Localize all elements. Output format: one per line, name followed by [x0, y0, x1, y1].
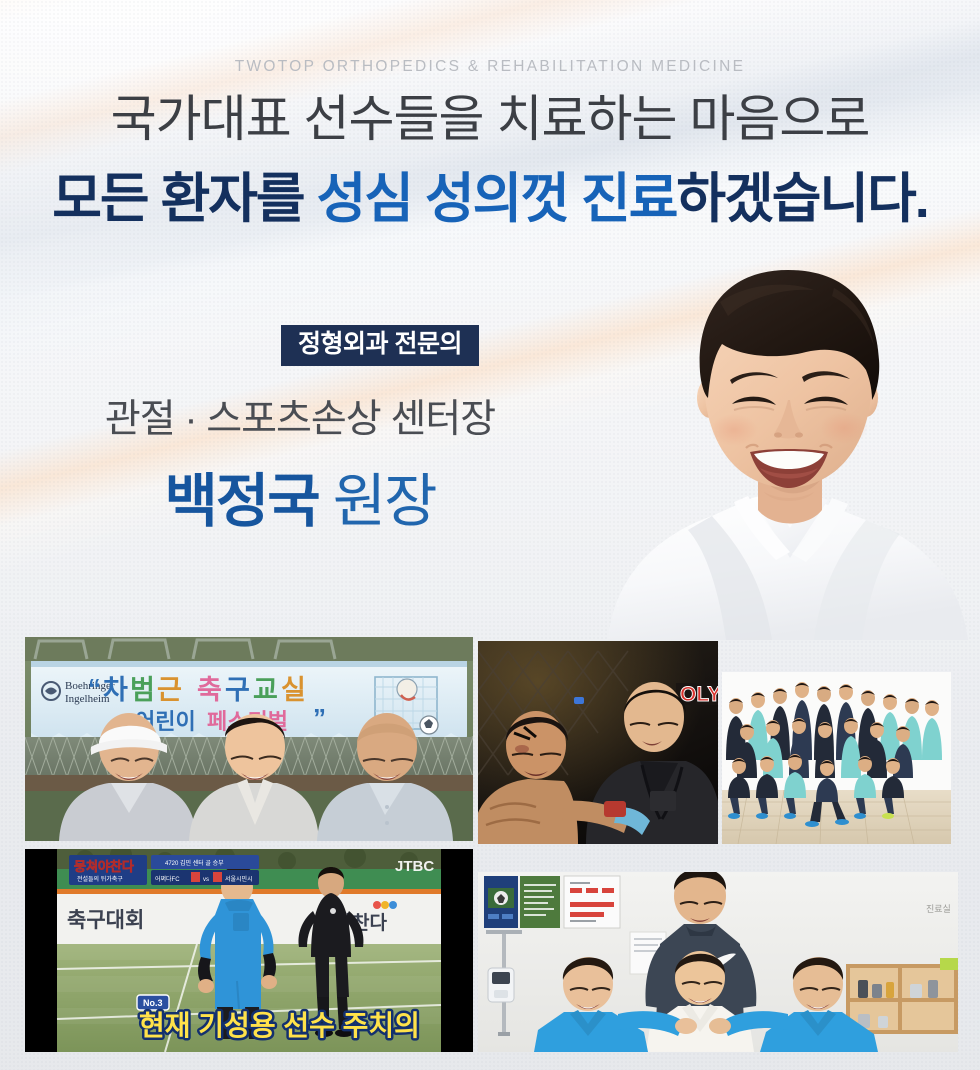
gallery-photo-mma-cageside-doctor[interactable]: OLY: [478, 641, 718, 844]
svg-text:뭉쳐야찬다: 뭉쳐야찬다: [74, 859, 134, 874]
svg-text:구: 구: [225, 675, 250, 705]
svg-text:4720 김민 센터 골 승부: 4720 김민 센터 골 승부: [165, 859, 224, 867]
doctor-portrait: [600, 248, 980, 640]
doctor-name: 백정국: [165, 469, 319, 534]
headline-part-2: 성심 성의껏: [317, 169, 581, 229]
svg-text:교: 교: [253, 675, 278, 705]
svg-text:“: “: [88, 673, 101, 703]
doctor-title: 원장: [333, 469, 436, 534]
svg-text:JTBC: JTBC: [395, 858, 434, 875]
svg-text:어쩌다FC: 어쩌다FC: [155, 875, 180, 883]
svg-text:No.3: No.3: [143, 998, 163, 1008]
doctor-role-label: 관절 · 스포츠손상 센터장: [0, 388, 600, 444]
svg-text:실: 실: [281, 675, 306, 705]
headline-part-3: 진료: [581, 169, 676, 229]
svg-text:축구대회: 축구대회: [67, 909, 144, 932]
doctor-name-line: 백정국 원장: [0, 473, 600, 531]
svg-text:현재 기성용 선수 주치의: 현재 기성용 선수 주치의: [139, 1010, 420, 1041]
gallery-photo-national-team-group[interactable]: [722, 672, 951, 844]
specialty-badge: 정형외과 전문의: [281, 325, 479, 366]
headline-part-4: 하겠습니다.: [676, 169, 927, 229]
brand-eyebrow-text: TWOTOP ORTHOPEDICS & REHABILITATION MEDI…: [0, 58, 980, 76]
svg-text:OLY: OLY: [680, 683, 718, 706]
svg-text:범: 범: [130, 675, 155, 705]
svg-text:전설들의 뒤가축구: 전설들의 뒤가축구: [77, 875, 123, 883]
headline-part-1: 모든 환자를: [52, 169, 316, 229]
headline-line-two: 모든 환자를 성심 성의껏 진료하겠습니다.: [0, 172, 980, 226]
headline-line-one: 국가대표 선수들을 치료하는 마음으로: [0, 94, 980, 144]
promo-page-root: TWOTOP ORTHOPEDICS & REHABILITATION MEDI…: [0, 0, 980, 1070]
svg-text:”: ”: [313, 703, 326, 733]
svg-text:차: 차: [103, 675, 128, 705]
svg-text:서울시민시: 서울시민시: [225, 875, 253, 883]
gallery-photo-clinic-with-athletes[interactable]: 진료실: [478, 872, 958, 1052]
svg-text:vs: vs: [203, 877, 209, 883]
gallery-photo-jtbc-broadcast[interactable]: 축구대회 쳐야찬다: [25, 849, 473, 1052]
svg-text:근: 근: [157, 675, 182, 705]
svg-text:축: 축: [197, 675, 222, 705]
gallery-photo-cha-bum-kun-soccer-class[interactable]: Boehringer Ingelheim “ 차 범 근 축 구 교 실 어린이…: [25, 637, 473, 841]
svg-text:진료실: 진료실: [926, 904, 951, 914]
